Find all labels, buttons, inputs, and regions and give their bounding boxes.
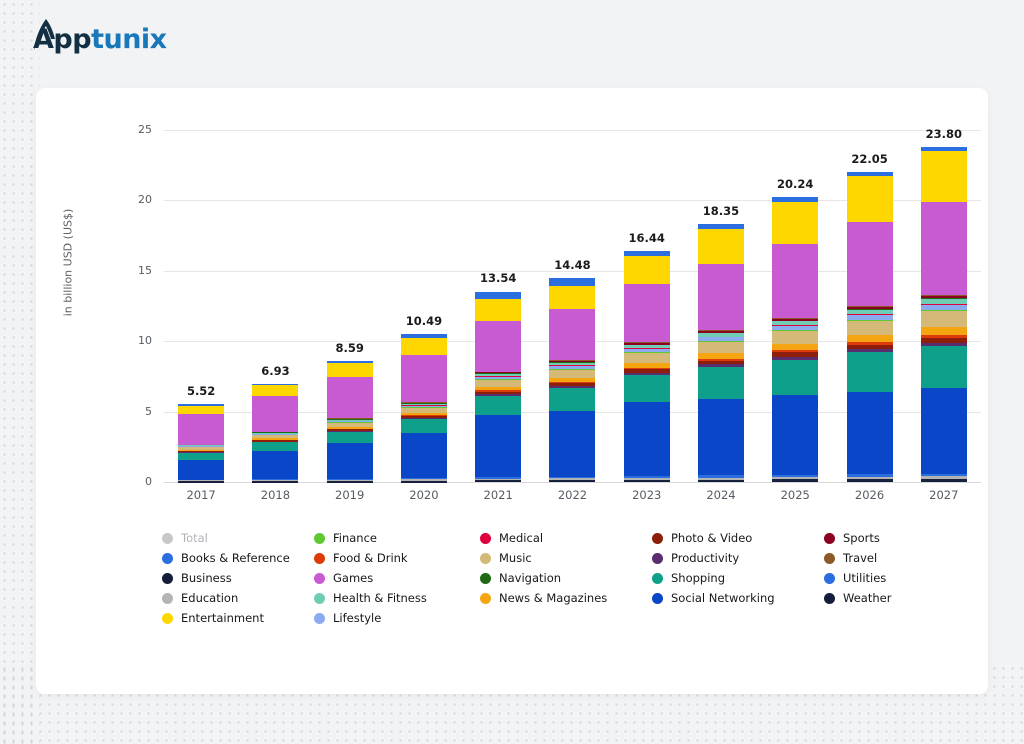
bar-segment[interactable] bbox=[401, 338, 447, 355]
x-axis-tick-label: 2017 bbox=[170, 488, 232, 510]
legend-item-label: Entertainment bbox=[181, 611, 264, 625]
x-axis-tick-label: 2025 bbox=[764, 488, 826, 510]
bar-segment[interactable] bbox=[772, 331, 818, 343]
bar-segment[interactable] bbox=[475, 321, 521, 372]
legend-color-swatch-icon bbox=[314, 613, 325, 624]
bar-segment[interactable] bbox=[475, 292, 521, 300]
legend-item-label: Business bbox=[181, 571, 232, 585]
x-axis-tick-labels: 2017201820192020202120222023202420252026… bbox=[164, 488, 981, 510]
legend-item-label: Games bbox=[333, 571, 373, 585]
legend-item[interactable]: Finance bbox=[314, 528, 480, 548]
bar-segment[interactable] bbox=[921, 388, 967, 473]
legend-item[interactable]: Navigation bbox=[480, 568, 652, 588]
bar-stack bbox=[178, 404, 224, 482]
legend-item[interactable]: Shopping bbox=[652, 568, 824, 588]
bar-segment[interactable] bbox=[698, 367, 744, 399]
y-axis-tick-label: 10 bbox=[112, 334, 152, 347]
bar-segment[interactable] bbox=[921, 202, 967, 295]
legend-color-swatch-icon bbox=[652, 533, 663, 544]
legend-item-label: Education bbox=[181, 591, 238, 605]
bar-segment[interactable] bbox=[475, 380, 521, 387]
bar-stack bbox=[624, 251, 670, 482]
legend-color-swatch-icon bbox=[480, 573, 491, 584]
legend-item[interactable]: Medical bbox=[480, 528, 652, 548]
x-axis-tick-label: 2018 bbox=[244, 488, 306, 510]
bar-segment[interactable] bbox=[401, 433, 447, 478]
y-axis-tick-label: 15 bbox=[112, 264, 152, 277]
bar-total-label: 22.05 bbox=[851, 152, 887, 166]
bar-segment[interactable] bbox=[921, 346, 967, 388]
legend-item-label: Health & Fitness bbox=[333, 591, 427, 605]
bar-column-2022[interactable]: 14.48 bbox=[541, 130, 603, 482]
bar-segment[interactable] bbox=[921, 481, 967, 482]
bar-segment[interactable] bbox=[772, 395, 818, 475]
bar-segment[interactable] bbox=[847, 335, 893, 343]
legend-color-swatch-icon bbox=[824, 593, 835, 604]
bar-segment[interactable] bbox=[847, 222, 893, 306]
legend-item[interactable]: Travel bbox=[824, 548, 974, 568]
legend-color-swatch-icon bbox=[480, 553, 491, 564]
y-axis-tick-label: 5 bbox=[112, 405, 152, 418]
bar-column-2019[interactable]: 8.59 bbox=[319, 130, 381, 482]
bar-segment[interactable] bbox=[698, 399, 744, 476]
bar-segment[interactable] bbox=[549, 286, 595, 310]
bar-segment[interactable] bbox=[772, 202, 818, 244]
bar-total-label: 8.59 bbox=[335, 341, 363, 355]
legend-item[interactable]: Education bbox=[162, 588, 314, 608]
bar-stack bbox=[772, 197, 818, 482]
bar-segment[interactable] bbox=[772, 360, 818, 396]
bar-segment[interactable] bbox=[252, 385, 298, 396]
legend-item[interactable]: Sports bbox=[824, 528, 974, 548]
bar-column-2021[interactable]: 13.54 bbox=[467, 130, 529, 482]
legend-item[interactable]: Lifestyle bbox=[314, 608, 480, 628]
bar-total-label: 16.44 bbox=[629, 231, 665, 245]
bar-segment[interactable] bbox=[475, 299, 521, 320]
bar-column-2026[interactable]: 22.05 bbox=[839, 130, 901, 482]
legend-color-swatch-icon bbox=[162, 573, 173, 584]
bar-segment[interactable] bbox=[252, 442, 298, 451]
bar-segment[interactable] bbox=[698, 264, 744, 330]
bar-segment[interactable] bbox=[327, 432, 373, 443]
bar-segment[interactable] bbox=[475, 481, 521, 482]
bar-total-label: 14.48 bbox=[554, 258, 590, 272]
bar-total-label: 10.49 bbox=[406, 314, 442, 328]
bar-segment[interactable] bbox=[401, 355, 447, 402]
bar-segment[interactable] bbox=[549, 388, 595, 410]
bar-segment[interactable] bbox=[772, 344, 818, 351]
bar-stack bbox=[921, 147, 967, 482]
bar-stack bbox=[252, 384, 298, 482]
x-axis-tick-label: 2019 bbox=[319, 488, 381, 510]
legend-color-swatch-icon bbox=[652, 593, 663, 604]
legend-color-swatch-icon bbox=[162, 533, 173, 544]
legend-color-swatch-icon bbox=[314, 553, 325, 564]
bar-segment[interactable] bbox=[549, 481, 595, 482]
legend-spacer bbox=[480, 608, 652, 628]
bar-column-2018[interactable]: 6.93 bbox=[244, 130, 306, 482]
bar-segment[interactable] bbox=[921, 311, 967, 326]
bar-segment[interactable] bbox=[847, 392, 893, 474]
bar-segment[interactable] bbox=[475, 396, 521, 415]
legend-item-label: Weather bbox=[843, 591, 891, 605]
legend-spacer bbox=[824, 608, 974, 628]
decorative-dot-pattern-left bbox=[0, 0, 40, 744]
bar-segment[interactable] bbox=[327, 377, 373, 418]
bar-total-label: 5.52 bbox=[187, 384, 215, 398]
legend-color-swatch-icon bbox=[480, 533, 491, 544]
bar-series-container: 5.526.938.5910.4913.5414.4816.4418.3520.… bbox=[164, 130, 981, 482]
bar-segment[interactable] bbox=[698, 481, 744, 482]
legend-item[interactable]: Games bbox=[314, 568, 480, 588]
apptunix-logo: Apptunix bbox=[33, 24, 167, 55]
x-axis-tick-label: 2026 bbox=[839, 488, 901, 510]
apptunix-logo-icon bbox=[33, 17, 59, 55]
bar-segment[interactable] bbox=[178, 406, 224, 415]
bar-segment[interactable] bbox=[475, 415, 521, 477]
y-axis-tick-labels: 0510152025 bbox=[106, 130, 152, 482]
legend-item-label: Medical bbox=[499, 531, 543, 545]
legend-color-swatch-icon bbox=[162, 613, 173, 624]
legend-item[interactable]: Weather bbox=[824, 588, 974, 608]
bar-segment[interactable] bbox=[624, 481, 670, 482]
bar-segment[interactable] bbox=[178, 414, 224, 444]
bar-segment[interactable] bbox=[847, 352, 893, 391]
x-axis-tick-label: 2027 bbox=[913, 488, 975, 510]
legend-item-label: Utilities bbox=[843, 571, 886, 585]
legend-spacer bbox=[652, 608, 824, 628]
legend-item-label: Lifestyle bbox=[333, 611, 381, 625]
legend-item[interactable]: Music bbox=[480, 548, 652, 568]
legend-item[interactable]: Photo & Video bbox=[652, 528, 824, 548]
bar-segment[interactable] bbox=[401, 419, 447, 432]
legend-item-label: Sports bbox=[843, 531, 880, 545]
legend-item-label: Finance bbox=[333, 531, 377, 545]
bar-column-2017[interactable]: 5.52 bbox=[170, 130, 232, 482]
bar-segment[interactable] bbox=[921, 327, 967, 335]
bar-stack bbox=[327, 361, 373, 482]
bar-segment[interactable] bbox=[252, 396, 298, 432]
legend-color-swatch-icon bbox=[824, 553, 835, 564]
bar-segment[interactable] bbox=[624, 284, 670, 342]
legend-item[interactable]: Food & Drink bbox=[314, 548, 480, 568]
bar-segment[interactable] bbox=[178, 460, 224, 479]
legend-item-label: Books & Reference bbox=[181, 551, 290, 565]
bar-segment[interactable] bbox=[698, 229, 744, 264]
bar-segment[interactable] bbox=[624, 256, 670, 284]
gridline bbox=[164, 482, 981, 483]
bar-stack bbox=[549, 278, 595, 482]
y-axis-title: in billion USD (US$) bbox=[62, 173, 75, 353]
legend-item-label: Photo & Video bbox=[671, 531, 752, 545]
legend-color-swatch-icon bbox=[314, 593, 325, 604]
bar-column-2020[interactable]: 10.49 bbox=[393, 130, 455, 482]
bar-segment[interactable] bbox=[327, 363, 373, 377]
legend-item[interactable]: Books & Reference bbox=[162, 548, 314, 568]
bar-segment[interactable] bbox=[327, 443, 373, 479]
x-axis-tick-label: 2021 bbox=[467, 488, 529, 510]
legend-color-swatch-icon bbox=[314, 533, 325, 544]
bar-total-label: 23.80 bbox=[926, 127, 962, 141]
legend-item-label: Music bbox=[499, 551, 532, 565]
x-axis-tick-label: 2023 bbox=[616, 488, 678, 510]
bar-segment[interactable] bbox=[178, 453, 224, 461]
bar-stack bbox=[698, 224, 744, 482]
x-axis-tick-label: 2024 bbox=[690, 488, 752, 510]
legend-item[interactable]: Health & Fitness bbox=[314, 588, 480, 608]
legend-item-label: Food & Drink bbox=[333, 551, 408, 565]
legend-item-label: Travel bbox=[843, 551, 877, 565]
legend-item[interactable]: Total bbox=[162, 528, 314, 548]
bar-segment[interactable] bbox=[624, 353, 670, 363]
bar-stack bbox=[475, 291, 521, 482]
x-axis-tick-label: 2022 bbox=[541, 488, 603, 510]
legend-item[interactable]: Utilities bbox=[824, 568, 974, 588]
x-axis-tick-label: 2020 bbox=[393, 488, 455, 510]
bar-segment[interactable] bbox=[847, 321, 893, 335]
y-axis-tick-label: 0 bbox=[112, 475, 152, 488]
y-axis-tick-label: 25 bbox=[112, 123, 152, 136]
legend-color-swatch-icon bbox=[652, 553, 663, 564]
bar-segment[interactable] bbox=[624, 375, 670, 402]
bar-segment[interactable] bbox=[252, 451, 298, 479]
bar-segment[interactable] bbox=[624, 402, 670, 475]
bar-segment[interactable] bbox=[549, 370, 595, 378]
logo-text-unix: tunix bbox=[91, 24, 167, 55]
legend-color-swatch-icon bbox=[824, 573, 835, 584]
stacked-bar-chart: in billion USD (US$) 0510152025 5.526.93… bbox=[36, 88, 988, 694]
legend-item-label: Productivity bbox=[671, 551, 739, 565]
legend-color-swatch-icon bbox=[162, 593, 173, 604]
bar-total-label: 18.35 bbox=[703, 204, 739, 218]
legend-color-swatch-icon bbox=[314, 573, 325, 584]
bar-column-2027[interactable]: 23.80 bbox=[913, 130, 975, 482]
legend-item[interactable]: News & Magazines bbox=[480, 588, 652, 608]
bar-segment[interactable] bbox=[549, 309, 595, 360]
legend-color-swatch-icon bbox=[652, 573, 663, 584]
bar-segment[interactable] bbox=[772, 244, 818, 318]
legend-item[interactable]: Entertainment bbox=[162, 608, 314, 628]
bar-segment[interactable] bbox=[921, 151, 967, 202]
legend-item-label: Total bbox=[181, 531, 208, 545]
legend-item-label: Navigation bbox=[499, 571, 561, 585]
legend-item-label: Social Networking bbox=[671, 591, 775, 605]
bar-stack bbox=[847, 172, 893, 482]
legend-color-swatch-icon bbox=[480, 593, 491, 604]
bar-total-label: 13.54 bbox=[480, 271, 516, 285]
bar-segment[interactable] bbox=[847, 481, 893, 482]
legend-item[interactable]: Social Networking bbox=[652, 588, 824, 608]
bar-segment[interactable] bbox=[772, 481, 818, 482]
bar-stack bbox=[401, 334, 447, 482]
bar-segment[interactable] bbox=[847, 176, 893, 222]
bar-segment[interactable] bbox=[698, 342, 744, 353]
bar-column-2023[interactable]: 16.44 bbox=[616, 130, 678, 482]
legend-color-swatch-icon bbox=[162, 553, 173, 564]
y-axis-tick-label: 20 bbox=[112, 193, 152, 206]
legend-item[interactable]: Productivity bbox=[652, 548, 824, 568]
legend-item-label: News & Magazines bbox=[499, 591, 607, 605]
legend-item[interactable]: Business bbox=[162, 568, 314, 588]
bar-column-2024[interactable]: 18.35 bbox=[690, 130, 752, 482]
bar-segment[interactable] bbox=[549, 411, 595, 477]
chart-legend: TotalFinanceMedicalPhoto & VideoSportsBo… bbox=[162, 528, 962, 628]
legend-item-label: Shopping bbox=[671, 571, 725, 585]
chart-card: in billion USD (US$) 0510152025 5.526.93… bbox=[36, 88, 988, 694]
bar-total-label: 6.93 bbox=[261, 364, 289, 378]
bar-column-2025[interactable]: 20.24 bbox=[764, 130, 826, 482]
legend-color-swatch-icon bbox=[824, 533, 835, 544]
bar-segment[interactable] bbox=[549, 278, 595, 285]
bar-total-label: 20.24 bbox=[777, 177, 813, 191]
